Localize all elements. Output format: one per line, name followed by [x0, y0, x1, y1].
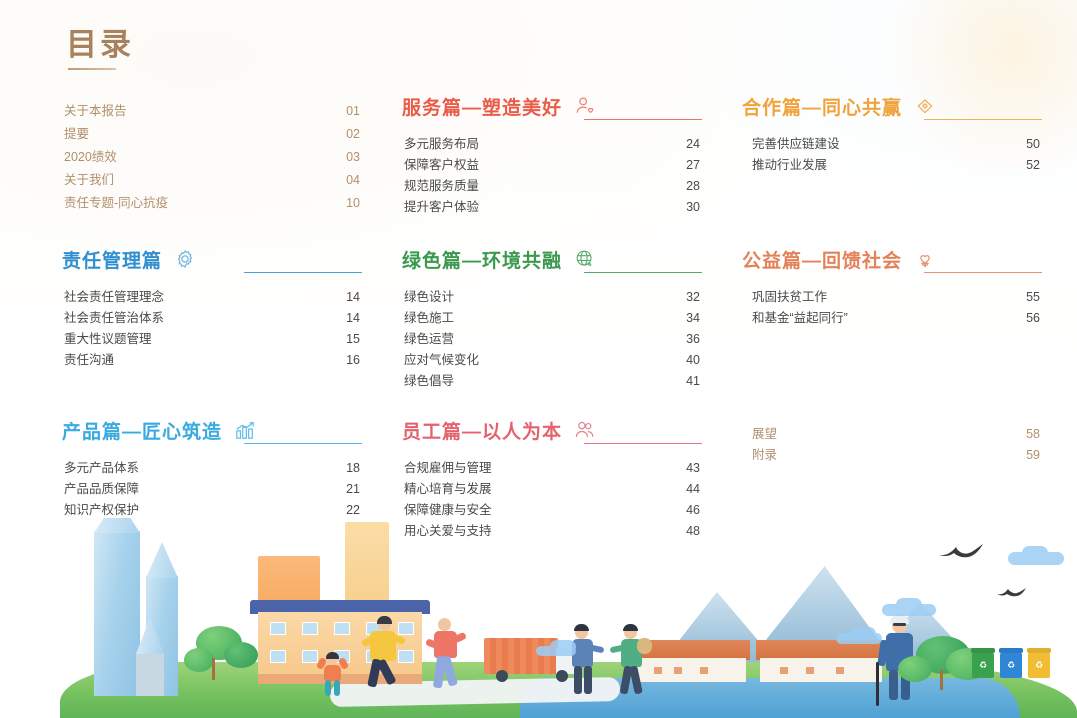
entry-label: 展望 — [752, 424, 777, 445]
toc-page: 目录 关于本报告 01 提要 02 2020绩效 03 — [0, 0, 1077, 718]
two-people-icon — [572, 417, 598, 443]
bin-blue: ♻ — [1000, 652, 1022, 678]
section-public-welfare: 公益篇—回馈社会 巩固扶贫工作 55 — [742, 243, 1042, 329]
list-item[interactable]: 绿色施工 34 — [402, 308, 702, 329]
section-rule — [924, 119, 1042, 120]
globe-leaf-icon — [572, 246, 598, 272]
toc-tail-list: 展望 58 附录 59 — [742, 424, 1042, 466]
section-header: 责任管理篇 — [62, 243, 362, 275]
entry-label: 2020绩效 — [64, 146, 117, 169]
section-title: 产品篇—匠心筑造 — [62, 417, 222, 444]
entry-label: 合规雇佣与管理 — [404, 458, 492, 479]
man-shaking-hands-left — [566, 624, 600, 696]
section-title: 绿色篇—环境共融 — [402, 246, 562, 273]
list-item[interactable]: 2020绩效 03 — [62, 146, 362, 169]
section-rule — [924, 272, 1042, 273]
entry-label: 多元产品体系 — [64, 458, 139, 479]
entry-label: 和基金“益起同行” — [752, 308, 848, 329]
entry-page: 14 — [340, 287, 360, 308]
section-rule — [244, 272, 362, 273]
toc-intro-list: 关于本报告 01 提要 02 2020绩效 03 关于我们 04 — [62, 100, 362, 215]
list-item[interactable]: 保障客户权益 27 — [402, 155, 702, 176]
entry-page: 27 — [680, 155, 700, 176]
skyscraper-base — [136, 652, 164, 696]
entry-page: 34 — [680, 308, 700, 329]
entry-label: 关于本报告 — [64, 100, 127, 123]
section-green: 绿色篇—环境共融 绿色设计 32 — [402, 243, 702, 392]
entry-label: 绿色设计 — [404, 287, 454, 308]
entry-label: 重大性议题管理 — [64, 329, 152, 350]
section-responsibility-management: 责任管理篇 社会责任管理理念 14 社会责任管治体系 — [62, 243, 362, 371]
entry-page: 30 — [680, 197, 700, 218]
list-item[interactable]: 应对气候变化 40 — [402, 350, 702, 371]
list-item[interactable]: 规范服务质量 28 — [402, 176, 702, 197]
list-item[interactable]: 和基金“益起同行” 56 — [742, 308, 1042, 329]
entry-page: 50 — [1020, 134, 1040, 155]
entry-label: 规范服务质量 — [404, 176, 479, 197]
section-header: 服务篇—塑造美好 — [402, 90, 702, 122]
entry-label: 责任专题-同心抗疫 — [64, 192, 168, 215]
entry-page: 43 — [680, 458, 700, 479]
entry-label: 多元服务布局 — [404, 134, 479, 155]
entry-page: 28 — [680, 176, 700, 197]
list-item[interactable]: 提要 02 — [62, 123, 362, 146]
entry-label: 巩固扶贫工作 — [752, 287, 827, 308]
running-woman — [424, 616, 468, 694]
entry-label: 保障客户权益 — [404, 155, 479, 176]
list-item[interactable]: 合规雇佣与管理 43 — [402, 458, 702, 479]
list-item[interactable]: 社会责任管治体系 14 — [62, 308, 362, 329]
list-item[interactable]: 重大性议题管理 15 — [62, 329, 362, 350]
list-item[interactable]: 推动行业发展 52 — [742, 155, 1042, 176]
gear-icon — [172, 246, 198, 272]
entry-page: 44 — [680, 479, 700, 500]
entry-label: 关于我们 — [64, 169, 114, 192]
title-underline — [68, 68, 116, 70]
heart-plant-icon — [912, 246, 938, 272]
entry-page: 40 — [680, 350, 700, 371]
bar-chart-growth-icon — [232, 417, 258, 443]
bird — [938, 542, 972, 554]
list-item[interactable]: 关于我们 04 — [62, 169, 362, 192]
entry-label: 产品品质保障 — [64, 479, 139, 500]
entry-page: 52 — [1020, 155, 1040, 176]
cloud — [882, 604, 936, 616]
entry-page: 03 — [340, 146, 360, 169]
section-products: 产品篇—匠心筑造 多元产品体系 18 — [62, 414, 362, 521]
entry-page: 58 — [1020, 424, 1040, 445]
person-heart-icon — [572, 93, 598, 119]
entry-page: 15 — [340, 329, 360, 350]
entry-label: 推动行业发展 — [752, 155, 827, 176]
entry-page: 18 — [340, 458, 360, 479]
section-title: 公益篇—回馈社会 — [742, 246, 902, 273]
section-rule — [244, 443, 362, 444]
hiker-with-backpack — [612, 624, 650, 696]
entry-label: 绿色倡导 — [404, 371, 454, 392]
running-father — [360, 618, 408, 692]
list-item[interactable]: 产品品质保障 21 — [62, 479, 362, 500]
section-rule — [584, 119, 702, 120]
section-header: 绿色篇—环境共融 — [402, 243, 702, 275]
entry-page: 36 — [680, 329, 700, 350]
handshake-icon — [912, 93, 938, 119]
section-service: 服务篇—塑造美好 多元服务布局 24 保障客户权益 — [402, 90, 702, 218]
entry-page: 55 — [1020, 287, 1040, 308]
city-countryside-scene: ♻ ♻ ♻ — [0, 518, 1077, 718]
entry-page: 04 — [340, 169, 360, 192]
entry-label: 绿色运营 — [404, 329, 454, 350]
section-title: 服务篇—塑造美好 — [402, 93, 562, 120]
truck-wheel — [496, 670, 508, 682]
entry-label: 提要 — [64, 123, 89, 146]
section-title: 责任管理篇 — [62, 246, 162, 273]
entry-label: 绿色施工 — [404, 308, 454, 329]
entry-page: 24 — [680, 134, 700, 155]
entry-label: 附录 — [752, 445, 777, 466]
cloud — [536, 646, 576, 656]
list-item[interactable]: 多元服务布局 24 — [402, 134, 702, 155]
entry-label: 责任沟通 — [64, 350, 114, 371]
list-item[interactable]: 责任专题-同心抗疫 10 — [62, 192, 362, 215]
list-item[interactable]: 绿色设计 32 — [402, 287, 702, 308]
section-header: 合作篇—同心共赢 — [742, 90, 1042, 122]
entry-page: 02 — [340, 123, 360, 146]
entry-page: 01 — [340, 100, 360, 123]
list-item[interactable]: 社会责任管理理念 14 — [62, 287, 362, 308]
entry-page: 21 — [340, 479, 360, 500]
entry-label: 社会责任管理理念 — [64, 287, 164, 308]
entry-page: 16 — [340, 350, 360, 371]
section-rule — [584, 443, 702, 444]
list-item[interactable]: 绿色运营 36 — [402, 329, 702, 350]
entry-page: 41 — [680, 371, 700, 392]
entry-label: 完善供应链建设 — [752, 134, 840, 155]
cloud — [836, 633, 882, 644]
list-item[interactable]: 精心培育与发展 44 — [402, 479, 702, 500]
list-item[interactable]: 绿色倡导 41 — [402, 371, 702, 392]
section-header: 公益篇—回馈社会 — [742, 243, 1042, 275]
section-header: 产品篇—匠心筑造 — [62, 414, 362, 446]
list-item[interactable]: 展望 58 — [742, 424, 1042, 445]
entry-label: 精心培育与发展 — [404, 479, 492, 500]
list-item[interactable]: 责任沟通 16 — [62, 350, 362, 371]
bird — [996, 586, 1030, 598]
section-rule — [584, 272, 702, 273]
delivery-truck — [484, 638, 558, 674]
list-item[interactable]: 巩固扶贫工作 55 — [742, 287, 1042, 308]
entry-label: 社会责任管治体系 — [64, 308, 164, 329]
list-item[interactable]: 多元产品体系 18 — [62, 458, 362, 479]
page-title: 目录 — [66, 28, 134, 62]
section-title: 合作篇—同心共赢 — [742, 93, 902, 120]
entry-page: 32 — [680, 287, 700, 308]
section-cooperation: 合作篇—同心共赢 完善供应链建设 50 推动行业发展 — [742, 90, 1042, 176]
entry-label: 提升客户体验 — [404, 197, 479, 218]
skyscraper-tall — [94, 531, 140, 696]
list-item[interactable]: 提升客户体验 30 — [402, 197, 702, 218]
list-item[interactable]: 完善供应链建设 50 — [742, 134, 1042, 155]
entry-label: 应对气候变化 — [404, 350, 479, 371]
section-header: 员工篇—以人为本 — [402, 414, 702, 446]
entry-page: 14 — [340, 308, 360, 329]
list-item[interactable]: 关于本报告 01 — [62, 100, 362, 123]
entry-page: 10 — [340, 192, 360, 215]
entry-page: 56 — [1020, 308, 1040, 329]
cloud — [1008, 552, 1064, 565]
list-item[interactable]: 附录 59 — [742, 445, 1042, 466]
bin-green: ♻ — [972, 652, 994, 678]
child — [318, 650, 348, 694]
section-title: 员工篇—以人为本 — [402, 417, 562, 444]
bin-yellow: ♻ — [1028, 652, 1050, 678]
entry-page: 59 — [1020, 445, 1040, 466]
